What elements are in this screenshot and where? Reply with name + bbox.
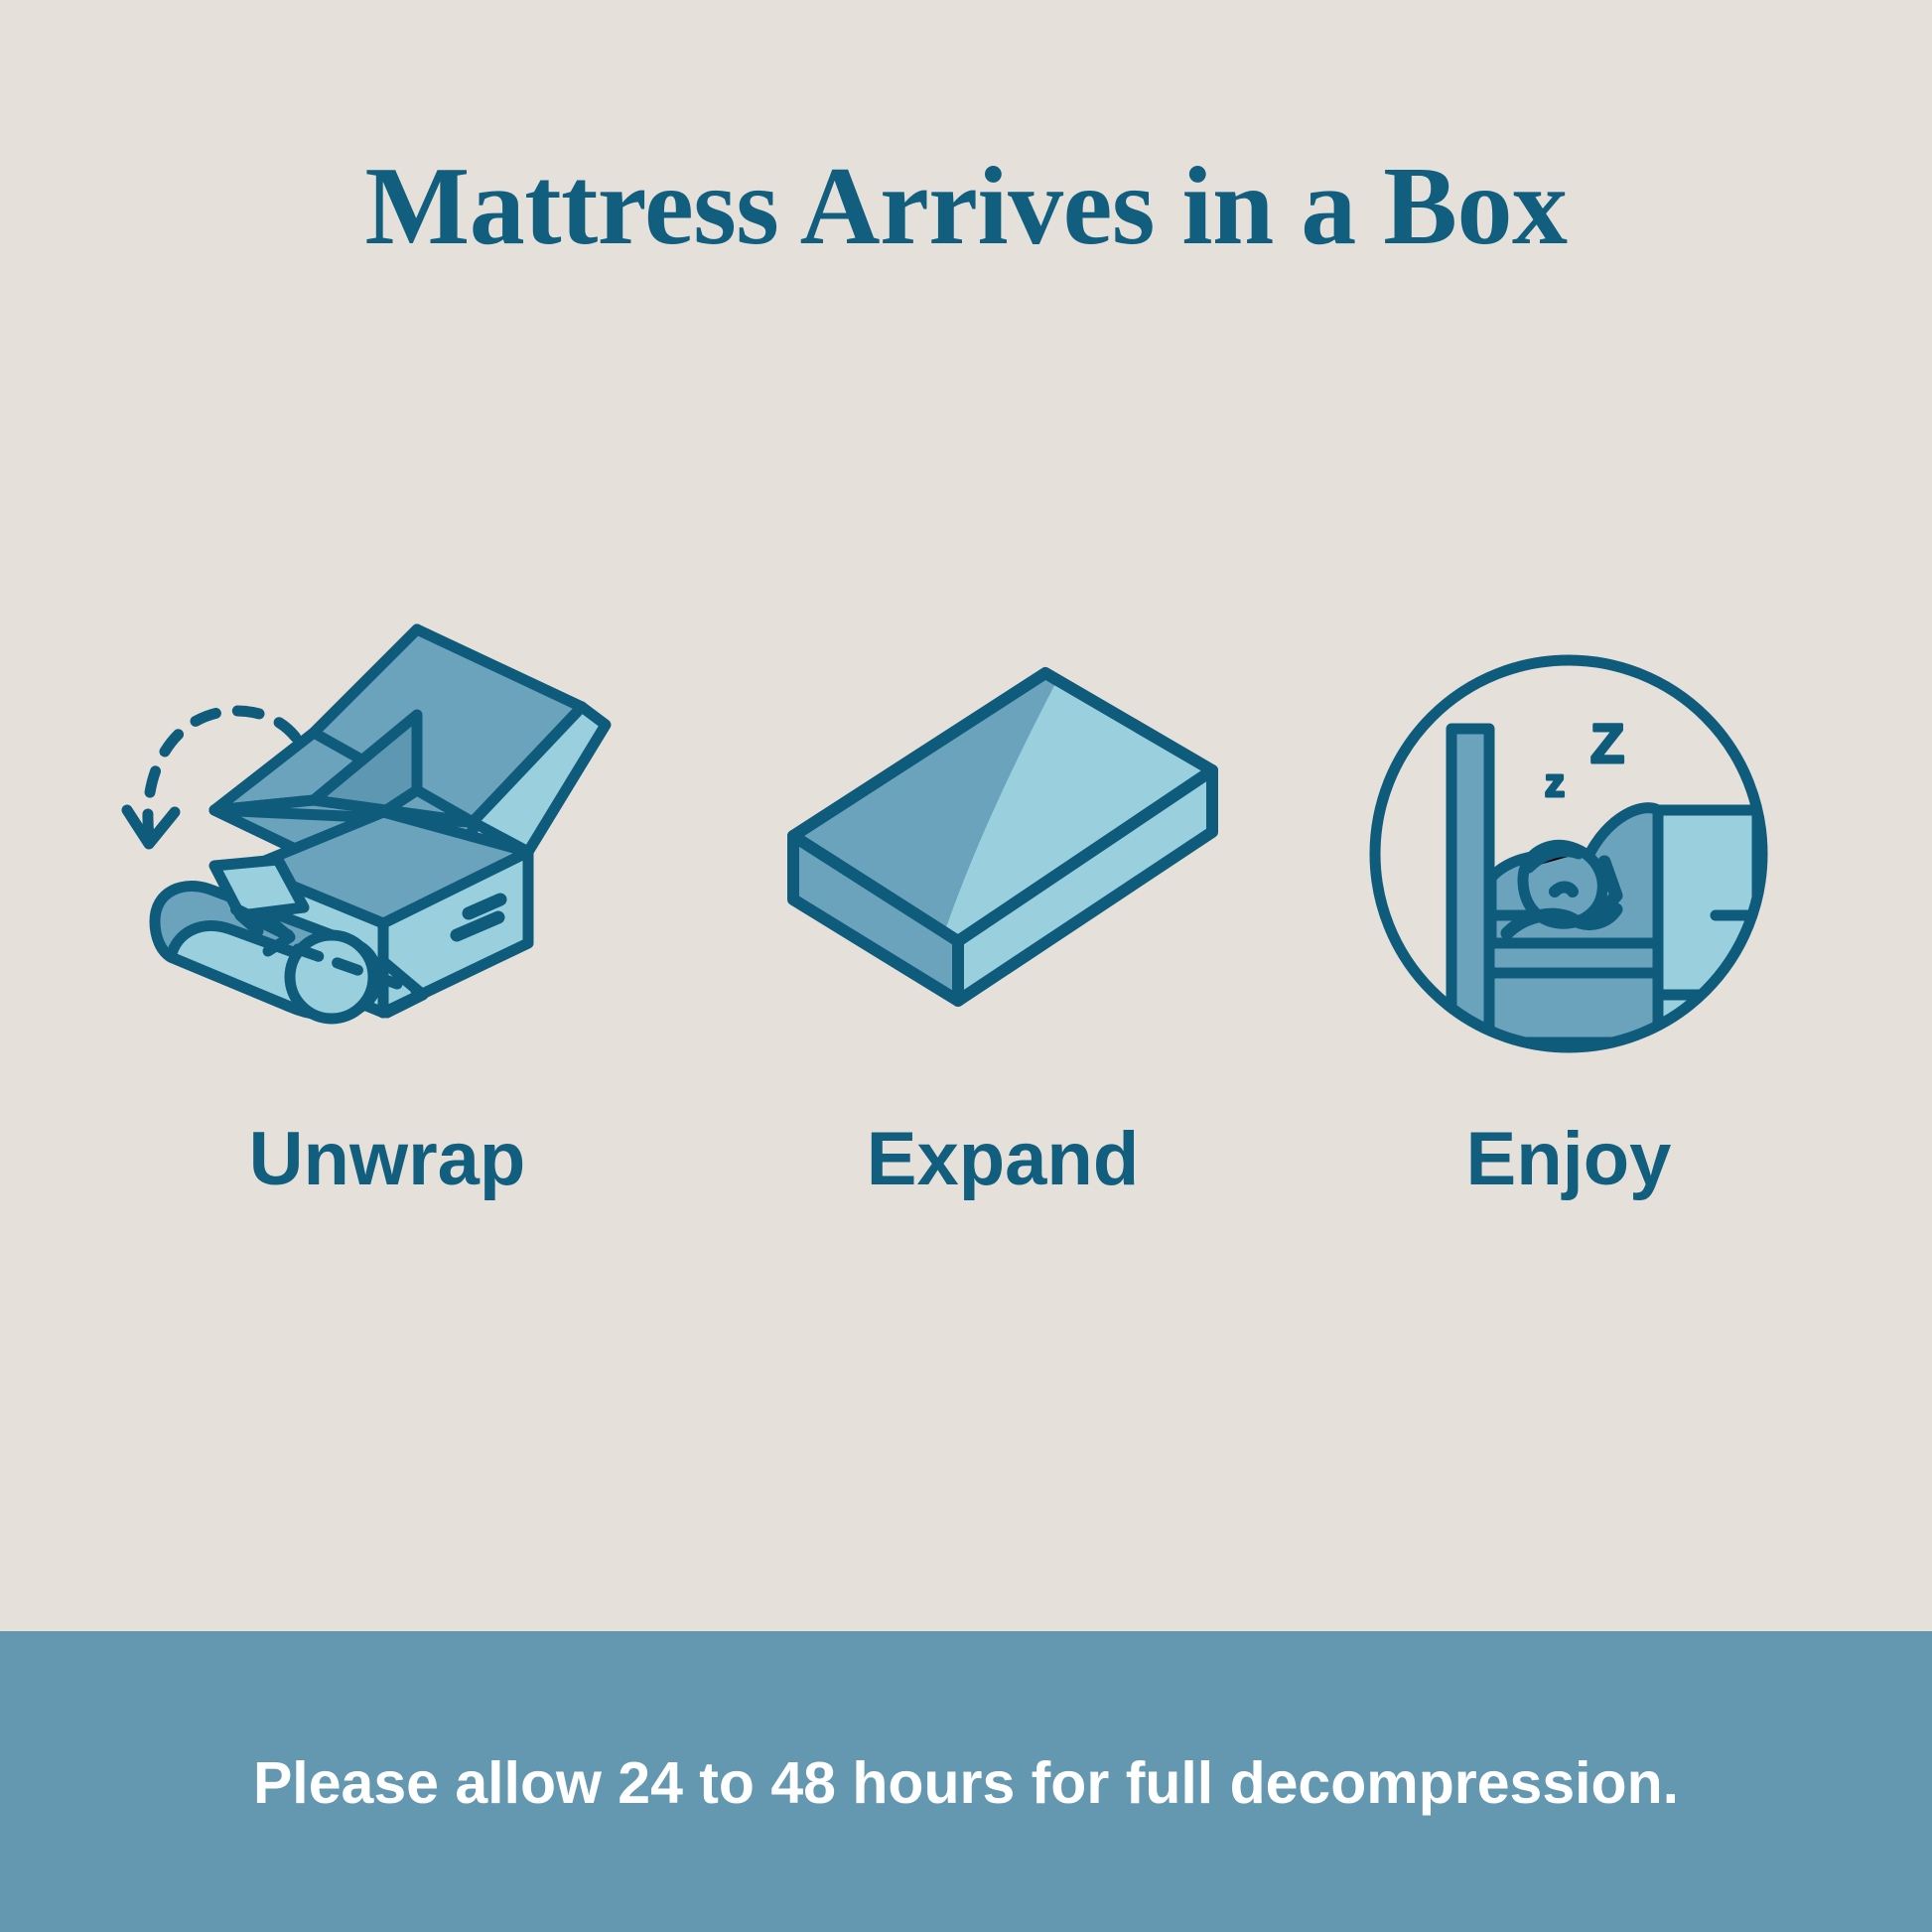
sleep-z-large: Z: [1590, 712, 1624, 774]
flat-mattress-icon: [769, 659, 1236, 1076]
step-unwrap: Unwrap: [40, 616, 735, 1197]
open-box-with-rolled-mattress-icon: [119, 616, 655, 1033]
step-expand: Expand: [725, 616, 1281, 1197]
sleep-z-small: z: [1545, 761, 1565, 805]
step-label-unwrap: Unwrap: [249, 1122, 526, 1197]
steps-row: Unwrap: [0, 616, 1932, 1311]
step-enjoy: Z z Enjoy: [1291, 616, 1847, 1197]
page-title: Mattress Arrives in a Box: [0, 141, 1932, 272]
step-label-enjoy: Enjoy: [1466, 1122, 1672, 1197]
infographic-page: Mattress Arrives in a Box: [0, 0, 1932, 1932]
decompression-note: Please allow 24 to 48 hours for full dec…: [253, 1754, 1679, 1813]
person-sleeping-in-bed-icon: Z z: [1360, 645, 1777, 1062]
footer-band: Please allow 24 to 48 hours for full dec…: [0, 1631, 1932, 1932]
step-label-expand: Expand: [867, 1122, 1140, 1197]
